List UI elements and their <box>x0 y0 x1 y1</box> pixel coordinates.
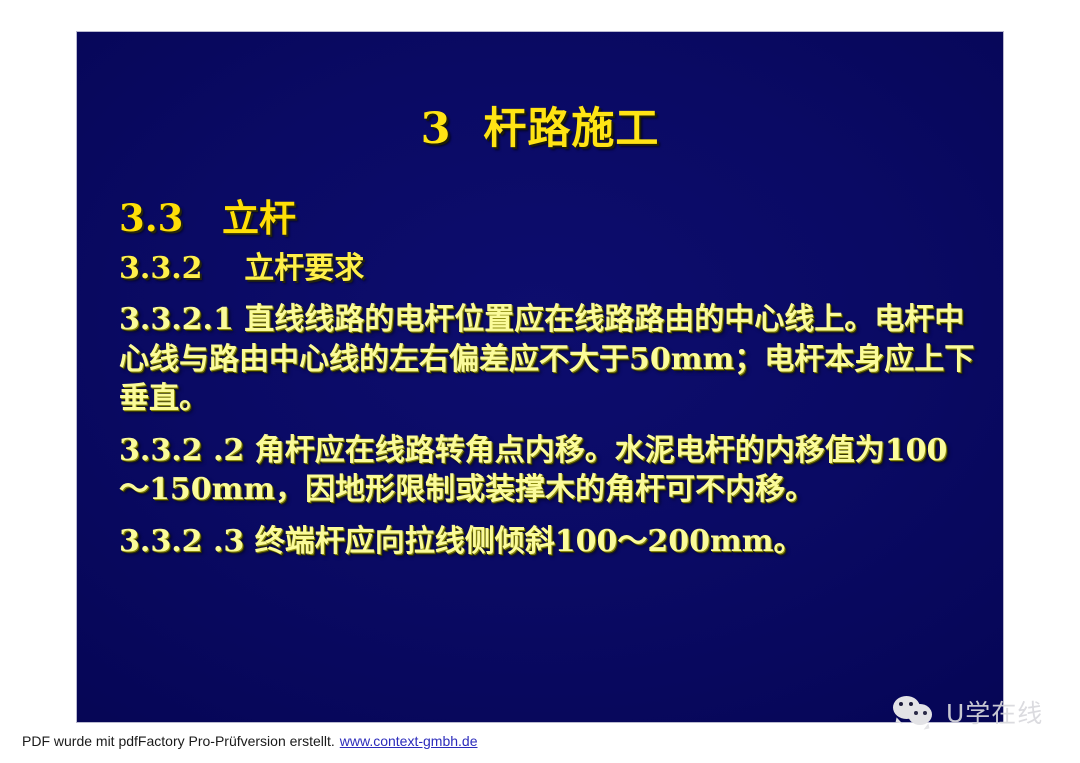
section-heading-3-3-2: 3.3.2 立杆要求 <box>119 251 977 286</box>
slide-body: 3.3 立杆 3.3.2 立杆要求 3.3.2.1 直线线路的电杆位置应在线路路… <box>119 197 977 562</box>
body-paragraph-3-3-2-2: 3.3.2 .2 角杆应在线路转角点内移。水泥电杆的内移值为100～150mm，… <box>119 431 977 510</box>
section-heading-3-3: 3.3 立杆 <box>119 197 977 241</box>
page-title: 3 杆路施工 <box>77 94 1003 156</box>
context-gmbh-link[interactable]: www.context-gmbh.de <box>340 733 478 749</box>
body-paragraph-3-3-2-3: 3.3.2 .3 终端杆应向拉线侧倾斜100～200mm。 <box>119 522 977 562</box>
pdf-factory-stamp: PDF wurde mit pdfFactory Pro-Prüfversion… <box>22 733 478 749</box>
presentation-slide: 3 杆路施工 3.3 立杆 3.3.2 立杆要求 3.3.2.1 直线线路的电杆… <box>77 32 1003 722</box>
pdf-factory-stamp-text: PDF wurde mit pdfFactory Pro-Prüfversion… <box>22 733 335 749</box>
body-paragraph-3-3-2-1: 3.3.2.1 直线线路的电杆位置应在线路路由的中心线上。电杆中心线与路由中心线… <box>119 300 977 419</box>
